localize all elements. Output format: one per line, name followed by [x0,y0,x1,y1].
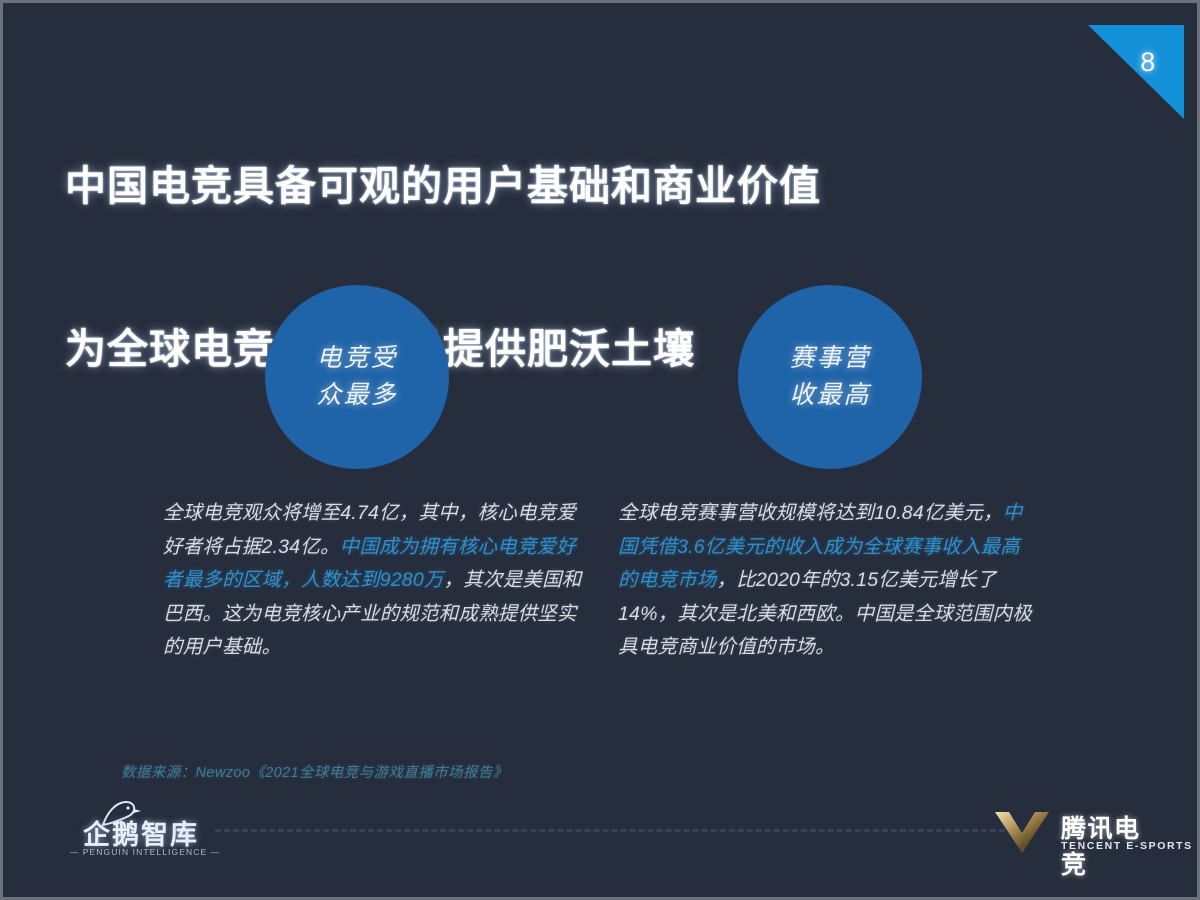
penguin-intelligence-logo: 企鹅智库 — PENGUIN INTELLIGENCE — [69,801,221,865]
penguin-logo-en: — PENGUIN INTELLIGENCE — [69,847,221,857]
v-mark-icon [993,809,1051,860]
page-number: 8 [1088,47,1184,78]
body-segment: 全球电竞赛事营收规模将达到10.84亿美元， [618,502,1003,524]
circle-label: 电竞受 众最多 [316,340,397,415]
slide-canvas: 8 中国电竞具备可观的用户基础和商业价值 为全球电竞产业生长提供肥沃土壤 电竞受… [0,0,1200,900]
body-text-audience: 全球电竞观众将增至4.74亿，其中，核心电竞爱好者将占据2.34亿。中国成为拥有… [163,497,583,665]
source-note: 数据来源：Newzoo《2021全球电竞与游戏直播市场报告》 [121,761,508,782]
tencent-logo-en: TENCENT E-SPORTS [1061,840,1193,852]
circle-badge-audience: 电竞受 众最多 [265,285,449,469]
circle-label: 赛事营 收最高 [789,340,870,415]
tencent-esports-logo: 腾讯电竞 TENCENT E-SPORTS [993,805,1163,861]
circle-badge-revenue: 赛事营 收最高 [738,285,922,469]
footer-divider [215,829,1005,832]
column-revenue: 赛事营 收最高 全球电竞赛事营收规模将达到10.84亿美元，中国凭借3.6亿美元… [618,285,1038,665]
page-number-badge: 8 [1088,25,1184,119]
title-line-1: 中国电竞具备可观的用户基础和商业价值 [65,159,821,213]
body-text-revenue: 全球电竞赛事营收规模将达到10.84亿美元，中国凭借3.6亿美元的收入成为全球赛… [618,497,1038,665]
column-audience: 电竞受 众最多 全球电竞观众将增至4.74亿，其中，核心电竞爱好者将占据2.34… [163,285,583,665]
